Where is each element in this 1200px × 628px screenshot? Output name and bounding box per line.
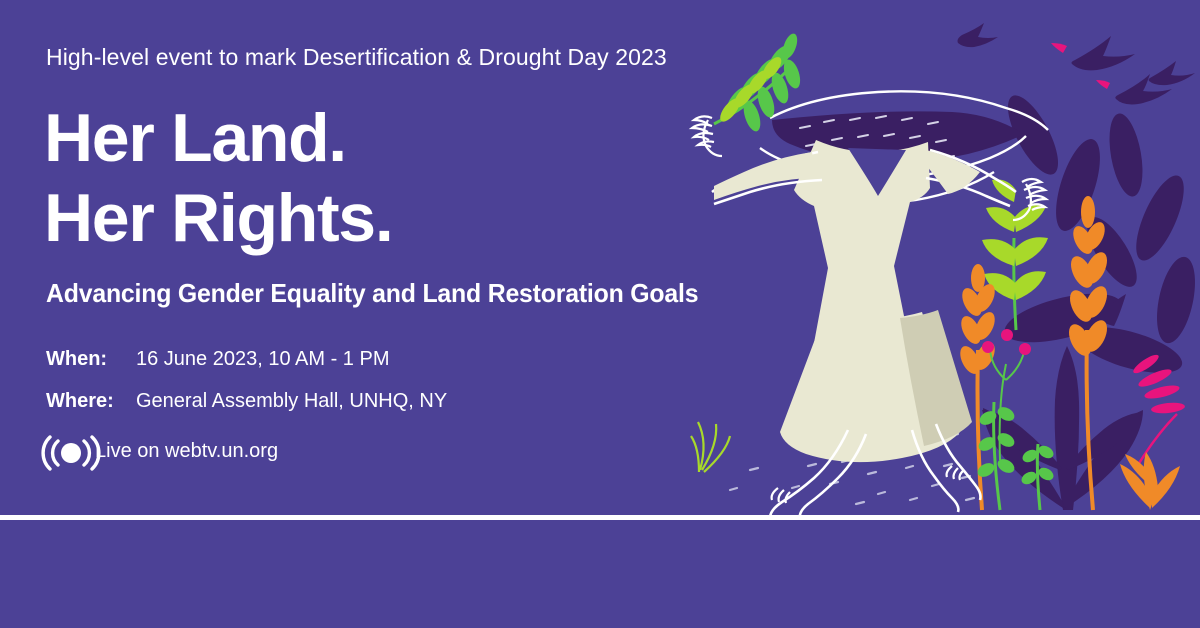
footer-bar: @unccd #HerLand #United4Land xyxy=(0,520,1200,628)
grass-tuft xyxy=(691,422,730,472)
left-foot xyxy=(772,488,790,503)
where-label: Where: xyxy=(46,390,136,413)
flying-birds-group xyxy=(958,23,1196,104)
detail-row-where: Where: General Assembly Hall, UNHQ, NY xyxy=(46,390,447,432)
when-value: 16 June 2023, 10 AM - 1 PM xyxy=(136,348,390,371)
headline-line-2: Her Rights. xyxy=(44,178,392,258)
detail-row-when: When: 16 June 2023, 10 AM - 1 PM xyxy=(46,348,447,390)
live-stream-row[interactable]: Live on webtv.un.org xyxy=(40,427,278,475)
page-title: Her Land. Her Rights. xyxy=(44,98,392,258)
live-stream-label[interactable]: Live on webtv.un.org xyxy=(95,440,278,463)
hero-stage: High-level event to mark Desertification… xyxy=(0,0,1200,515)
broadcast-icon xyxy=(40,433,102,473)
orange-fan-plant xyxy=(1120,452,1180,510)
event-details: When: 16 June 2023, 10 AM - 1 PM Where: … xyxy=(46,348,447,432)
dark-succulent xyxy=(982,346,1143,510)
when-label: When: xyxy=(46,348,136,371)
event-eyebrow: High-level event to mark Desertification… xyxy=(46,44,667,71)
page-subtitle: Advancing Gender Equality and Land Resto… xyxy=(46,278,698,309)
poster-banner: High-level event to mark Desertification… xyxy=(0,0,1200,628)
fern-branch xyxy=(714,32,803,134)
headline-line-1: Her Land. xyxy=(44,98,392,178)
where-value: General Assembly Hall, UNHQ, NY xyxy=(136,390,447,413)
